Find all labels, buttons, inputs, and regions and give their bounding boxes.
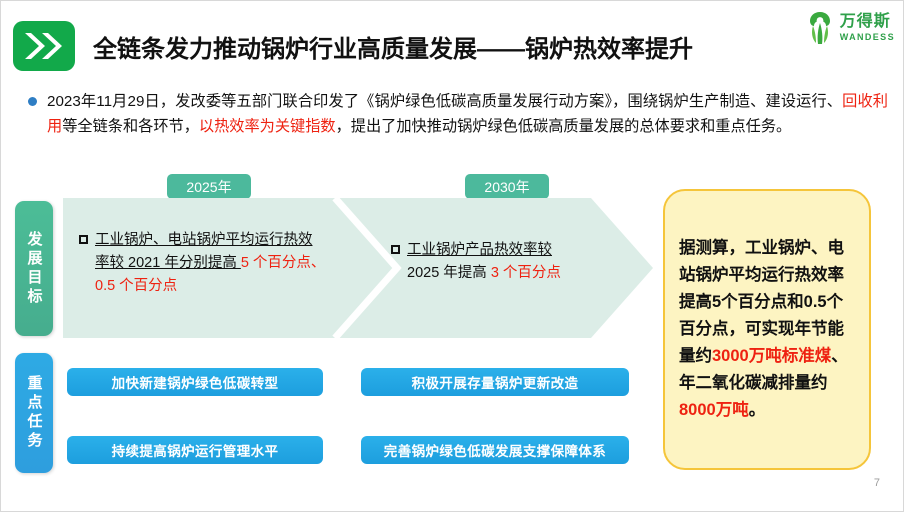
estimate-note-box: 据测算，工业锅炉、电站锅炉平均运行热效率提高5个百分点和0.5个百分点，可实现年… [663,189,871,470]
year-badge-2030: 2030年 [465,174,549,199]
side-tab-development-goal: 发展目标 [15,201,53,336]
goal-segment-2030-text: 工业锅炉产品热效率较2025 年提高 3 个百分点 [407,239,631,285]
year-badge-2025: 2025年 [167,174,251,199]
bullet-dot-icon [28,97,37,106]
sprout-logo-icon [805,11,835,45]
estimate-note-text: 据测算，工业锅炉、电站锅炉平均运行热效率提高5个百分点和0.5个百分点，可实现年… [665,235,869,424]
goal-segment-2030: 工业锅炉产品热效率较2025 年提高 3 个百分点 [391,239,631,285]
task-pill-2[interactable]: 积极开展存量锅炉更新改造 [361,368,629,396]
goal-segment-2025: 工业锅炉、电站锅炉平均运行热效率较 2021 年分别提高 5 个百分点、0.5 … [79,229,349,298]
page-title: 全链条发力推动锅炉行业高质量发展——锅炉热效率提升 [93,29,693,64]
intro-paragraph-block: 2023年11月29日，发改委等五部门联合印发了《锅炉绿色低碳高质量发展行动方案… [28,89,888,139]
task-pill-3[interactable]: 持续提高锅炉运行管理水平 [67,436,323,464]
square-bullet-icon [79,235,88,244]
square-bullet-icon [391,245,400,254]
logo-text-en: WANDESS [840,33,895,42]
company-logo: 万得斯 WANDESS [805,11,895,45]
page-number: 7 [874,477,880,489]
task-pill-1[interactable]: 加快新建锅炉绿色低碳转型 [67,368,323,396]
goal-segment-2025-text: 工业锅炉、电站锅炉平均运行热效率较 2021 年分别提高 5 个百分点、0.5 … [95,229,349,298]
double-chevron-icon [13,21,75,71]
intro-paragraph-text: 2023年11月29日，发改委等五部门联合印发了《锅炉绿色低碳高质量发展行动方案… [47,89,888,139]
side-tab-key-tasks: 重点任务 [15,353,53,473]
task-pill-4[interactable]: 完善锅炉绿色低碳发展支撑保障体系 [361,436,629,464]
logo-text-cn: 万得斯 [840,14,895,30]
slide-root: 全链条发力推动锅炉行业高质量发展——锅炉热效率提升 万得斯 WANDESS 20… [0,0,904,512]
